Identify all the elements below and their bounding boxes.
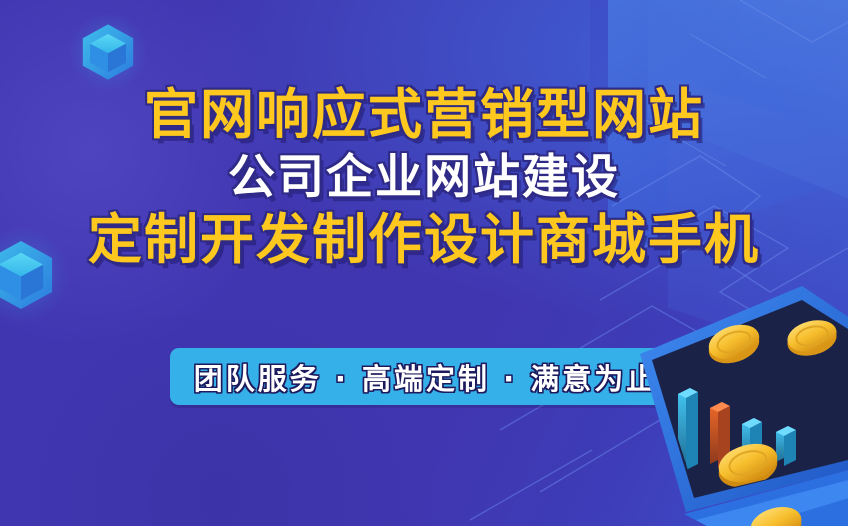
laptop-illustration bbox=[626, 282, 848, 526]
tagline-text: 团队服务 · 高端定制 · 满意为止 bbox=[194, 356, 658, 398]
cube-icon-top-left bbox=[78, 22, 138, 82]
headline-line-3: 定制开发制作设计商城手机 bbox=[0, 213, 848, 267]
tagline-badge: 团队服务 · 高端定制 · 满意为止 bbox=[170, 348, 682, 405]
headline-line-1: 官网响应式营销型网站 bbox=[0, 88, 848, 142]
headline-block: 官网响应式营销型网站 公司企业网站建设 定制开发制作设计商城手机 bbox=[0, 88, 848, 267]
promo-banner: 官网响应式营销型网站 公司企业网站建设 定制开发制作设计商城手机 团队服务 · … bbox=[0, 0, 848, 526]
headline-line-2: 公司企业网站建设 bbox=[0, 154, 848, 201]
